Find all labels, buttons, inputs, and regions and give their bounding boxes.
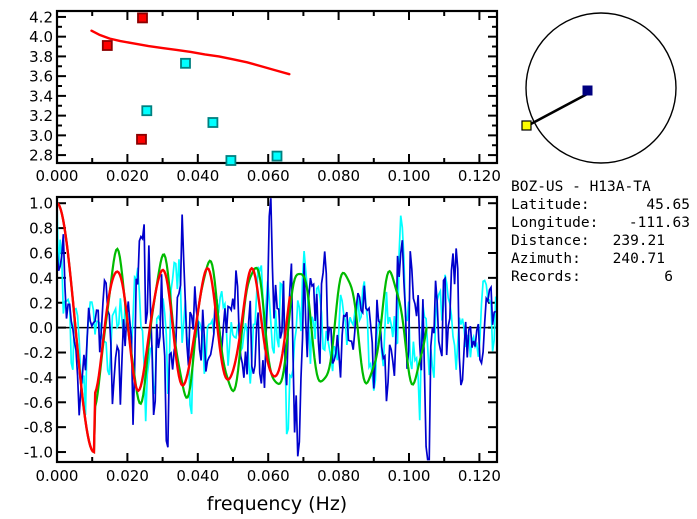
y-tick-label: 2.8 xyxy=(29,147,53,165)
y-tick-label: 0.0 xyxy=(29,319,53,337)
y-tick-label: -0.8 xyxy=(24,419,53,437)
y-tick-label: 4.0 xyxy=(29,28,53,46)
longitude-label: Longitude: xyxy=(511,215,598,231)
x-tick-label: 0.040 xyxy=(176,167,219,185)
y-tick-label: 3.2 xyxy=(29,107,53,125)
x-tick-label: 0.120 xyxy=(458,167,501,185)
bottom-panel-x-tick-labels: 0.0000.0200.0400.0600.0800.1000.120 xyxy=(36,467,501,485)
longitude-value: -111.63 xyxy=(629,215,690,231)
top-panel-tick-marks xyxy=(57,11,497,163)
dispersion-marker[interactable] xyxy=(226,156,235,165)
x-tick-label: 0.060 xyxy=(247,467,290,485)
y-tick-label: -0.6 xyxy=(24,394,53,412)
y-tick-label: 3.8 xyxy=(29,48,53,66)
x-tick-label: 0.100 xyxy=(388,467,431,485)
x-tick-label: 0.020 xyxy=(106,167,149,185)
dispersion-marker[interactable] xyxy=(142,106,151,115)
top-panel-frame xyxy=(57,11,497,163)
dispersion-marker[interactable] xyxy=(208,118,217,127)
x-axis-title: frequency (Hz) xyxy=(207,493,347,515)
dispersion-marker[interactable] xyxy=(138,13,147,22)
x-tick-label: 0.080 xyxy=(317,167,360,185)
x-tick-label: 0.020 xyxy=(106,467,149,485)
x-tick-label: 0.100 xyxy=(388,167,431,185)
bottom-panel-y-tick-labels: -1.0-0.8-0.6-0.4-0.20.00.20.40.60.81.0 xyxy=(24,195,53,462)
figure-root: 2.83.03.23.43.63.84.04.2 0.0000.0200.040… xyxy=(0,0,697,519)
x-tick-label: 0.120 xyxy=(458,467,501,485)
distance-label: Distance: xyxy=(511,233,590,249)
dispersion-marker[interactable] xyxy=(181,59,190,68)
azimuth-value: 240.71 xyxy=(613,251,665,267)
x-tick-label: 0.000 xyxy=(36,467,79,485)
dispersion-marker[interactable] xyxy=(103,41,112,50)
earth-circle-outline xyxy=(526,13,676,163)
great-circle-map-inset xyxy=(505,0,697,180)
top-panel-y-tick-labels: 2.83.03.23.43.63.84.04.2 xyxy=(29,8,53,164)
y-tick-label: 1.0 xyxy=(29,195,53,213)
station-pair-title: BOZ-US - H13A-TA xyxy=(511,179,651,195)
y-tick-label: 0.2 xyxy=(29,294,53,312)
y-tick-label: 0.4 xyxy=(29,269,53,287)
y-tick-label: -0.4 xyxy=(24,369,53,387)
x-tick-label: 0.000 xyxy=(36,167,79,185)
y-tick-label: 0.6 xyxy=(29,244,53,262)
station-edge-dot[interactable] xyxy=(522,121,531,130)
distance-value: 239.21 xyxy=(613,233,665,249)
y-tick-label: 3.0 xyxy=(29,127,53,145)
dispersion-marker[interactable] xyxy=(137,135,146,144)
y-tick-label: 0.8 xyxy=(29,220,53,238)
records-value: 6 xyxy=(664,269,673,285)
y-tick-label: -0.2 xyxy=(24,344,53,362)
y-tick-label: 4.2 xyxy=(29,8,53,26)
y-tick-label: -1.0 xyxy=(24,444,53,462)
records-label: Records: xyxy=(511,269,581,285)
latitude-label: Latitude: xyxy=(511,197,590,213)
y-tick-label: 3.6 xyxy=(29,68,53,86)
y-tick-label: 3.4 xyxy=(29,87,53,105)
latitude-value: 45.65 xyxy=(646,197,690,213)
x-tick-label: 0.080 xyxy=(317,467,360,485)
top-panel-x-tick-labels: 0.0000.0200.0400.0600.0800.1000.120 xyxy=(36,167,501,185)
dispersion-marker[interactable] xyxy=(273,152,282,161)
station-center-dot[interactable] xyxy=(583,86,592,95)
great-circle-ray xyxy=(527,93,589,126)
station-info-block: BOZ-US - H13A-TA Latitude: 45.65 Longitu… xyxy=(505,175,697,295)
azimuth-label: Azimuth: xyxy=(511,251,581,267)
x-tick-label: 0.040 xyxy=(176,467,219,485)
x-tick-label: 0.060 xyxy=(247,167,290,185)
dispersion-measurement-markers[interactable] xyxy=(103,13,282,165)
